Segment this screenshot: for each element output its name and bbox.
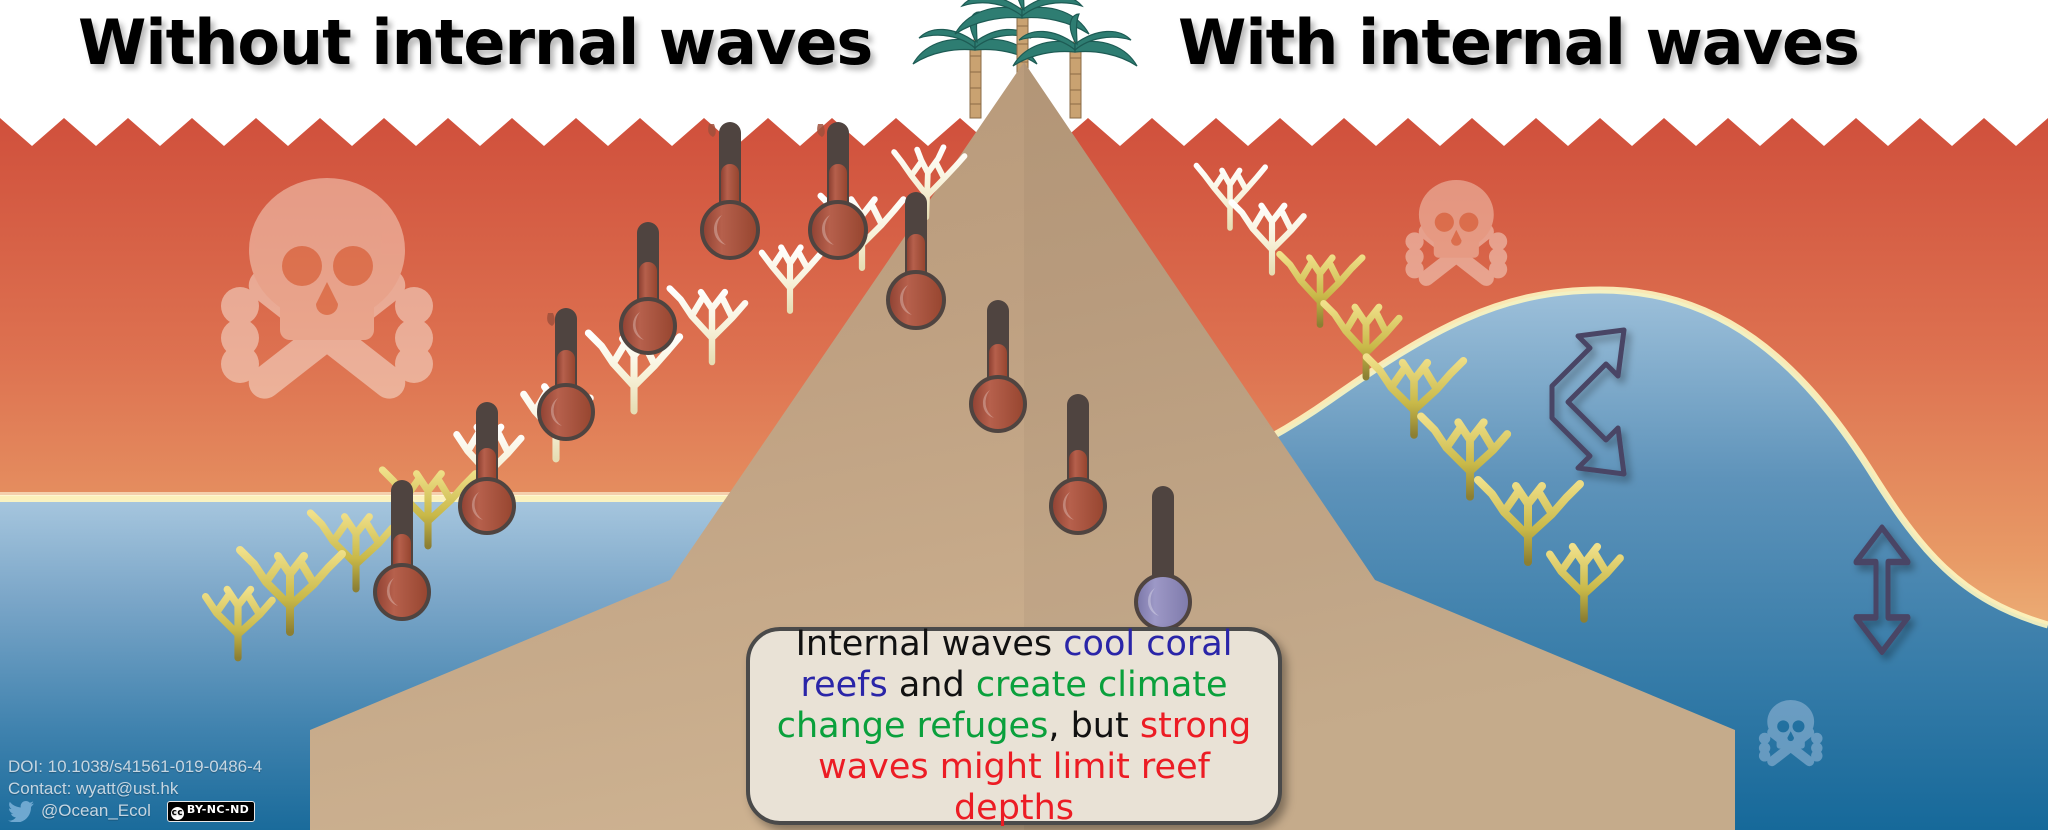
contact-text: Contact: wyatt@ust.hk <box>8 778 178 800</box>
social-row: @Ocean_Ecol ccBY-NC-ND <box>8 800 262 822</box>
message-segment-1: Internal waves <box>796 624 1064 664</box>
doi-row: DOI: 10.1038/s41561-019-0486-4 <box>8 756 262 778</box>
contact-row: Contact: wyatt@ust.hk <box>8 778 262 800</box>
title-with-internal-waves: With internal waves <box>1178 6 1859 79</box>
key-message-text: Internal waves cool coral reefs and crea… <box>750 624 1278 829</box>
title-without-internal-waves: Without internal waves <box>78 6 872 79</box>
message-segment-3: and <box>888 665 976 705</box>
doi-text: DOI: 10.1038/s41561-019-0486-4 <box>8 756 262 778</box>
attribution-block: DOI: 10.1038/s41561-019-0486-4 Contact: … <box>8 756 262 822</box>
infographic-canvas: Without internal waves With internal wav… <box>0 0 2048 830</box>
message-segment-5: , but <box>1048 706 1140 746</box>
twitter-bird-icon[interactable] <box>8 801 34 822</box>
cc-terms-text: BY-NC-ND <box>187 803 249 816</box>
twitter-handle[interactable]: @Ocean_Ecol <box>41 800 151 822</box>
cc-logo-icon: cc <box>171 807 184 820</box>
key-message-box: Internal waves cool coral reefs and crea… <box>746 627 1282 825</box>
creative-commons-license-badge[interactable]: ccBY-NC-ND <box>167 801 255 822</box>
